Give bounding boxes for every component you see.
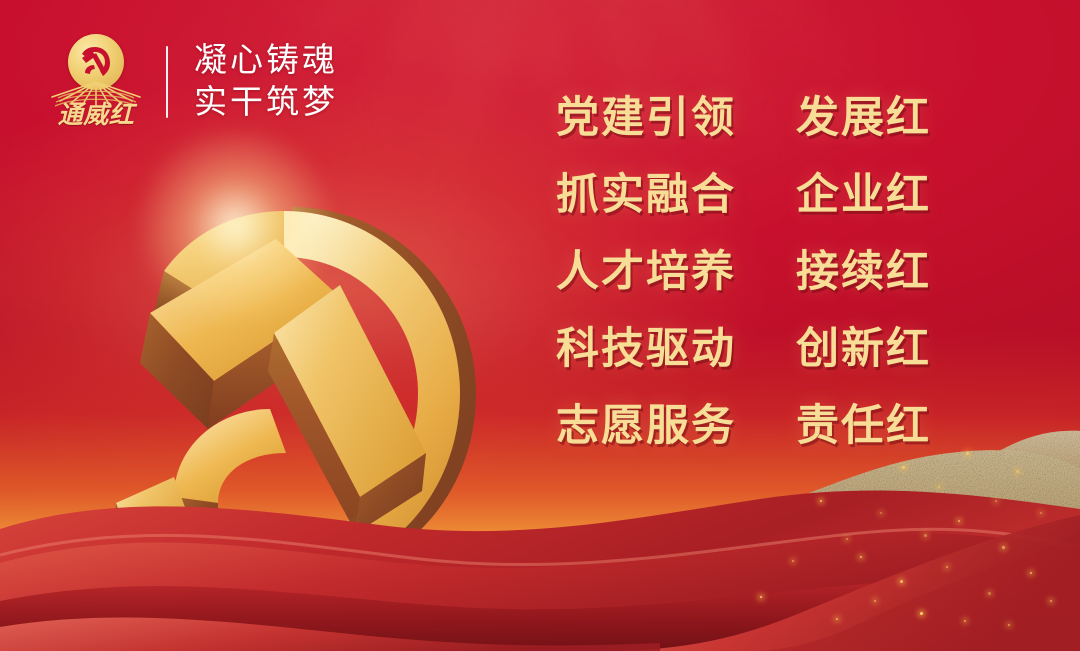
logo-wordmark: 通威红 [48,102,144,130]
headline-list: 党建引领 发展红 抓实融合 企业红 人才培养 接续红 科技驱动 创新红 志愿服务… [556,94,931,479]
slogan-line-2: 实干筑梦 [194,82,338,124]
headline-left: 志愿服务 [556,402,768,452]
headline-row: 人才培养 接续红 [556,248,931,325]
brand-logo: 通威红 [48,32,144,132]
slogan-line-1: 凝心铸魂 [194,40,338,82]
headline-right: 创新红 [796,325,931,375]
headline-right: 企业红 [796,171,931,221]
headline-left: 党建引领 [556,94,768,144]
red-silk-ribbons [0,451,1080,651]
brand-lockup: 通威红 凝心铸魂 实干筑梦 [48,32,338,132]
headline-left: 科技驱动 [556,325,768,375]
headline-right: 发展红 [796,94,931,144]
headline-row: 志愿服务 责任红 [556,402,931,479]
headline-row: 抓实融合 企业红 [556,171,931,248]
headline-left: 抓实融合 [556,171,768,221]
headline-left: 人才培养 [556,248,768,298]
headline-row: 科技驱动 创新红 [556,325,931,402]
poster-canvas: 通威红 凝心铸魂 实干筑梦 党建引领 发展红 抓实融合 企业红 人才培养 接续红… [0,0,1080,651]
headline-right: 责任红 [796,402,931,452]
headline-right: 接续红 [796,248,931,298]
headline-row: 党建引领 发展红 [556,94,931,171]
hammer-sickle-icon [77,43,115,81]
brand-divider [166,46,168,118]
brand-slogan: 凝心铸魂 实干筑梦 [194,40,338,124]
